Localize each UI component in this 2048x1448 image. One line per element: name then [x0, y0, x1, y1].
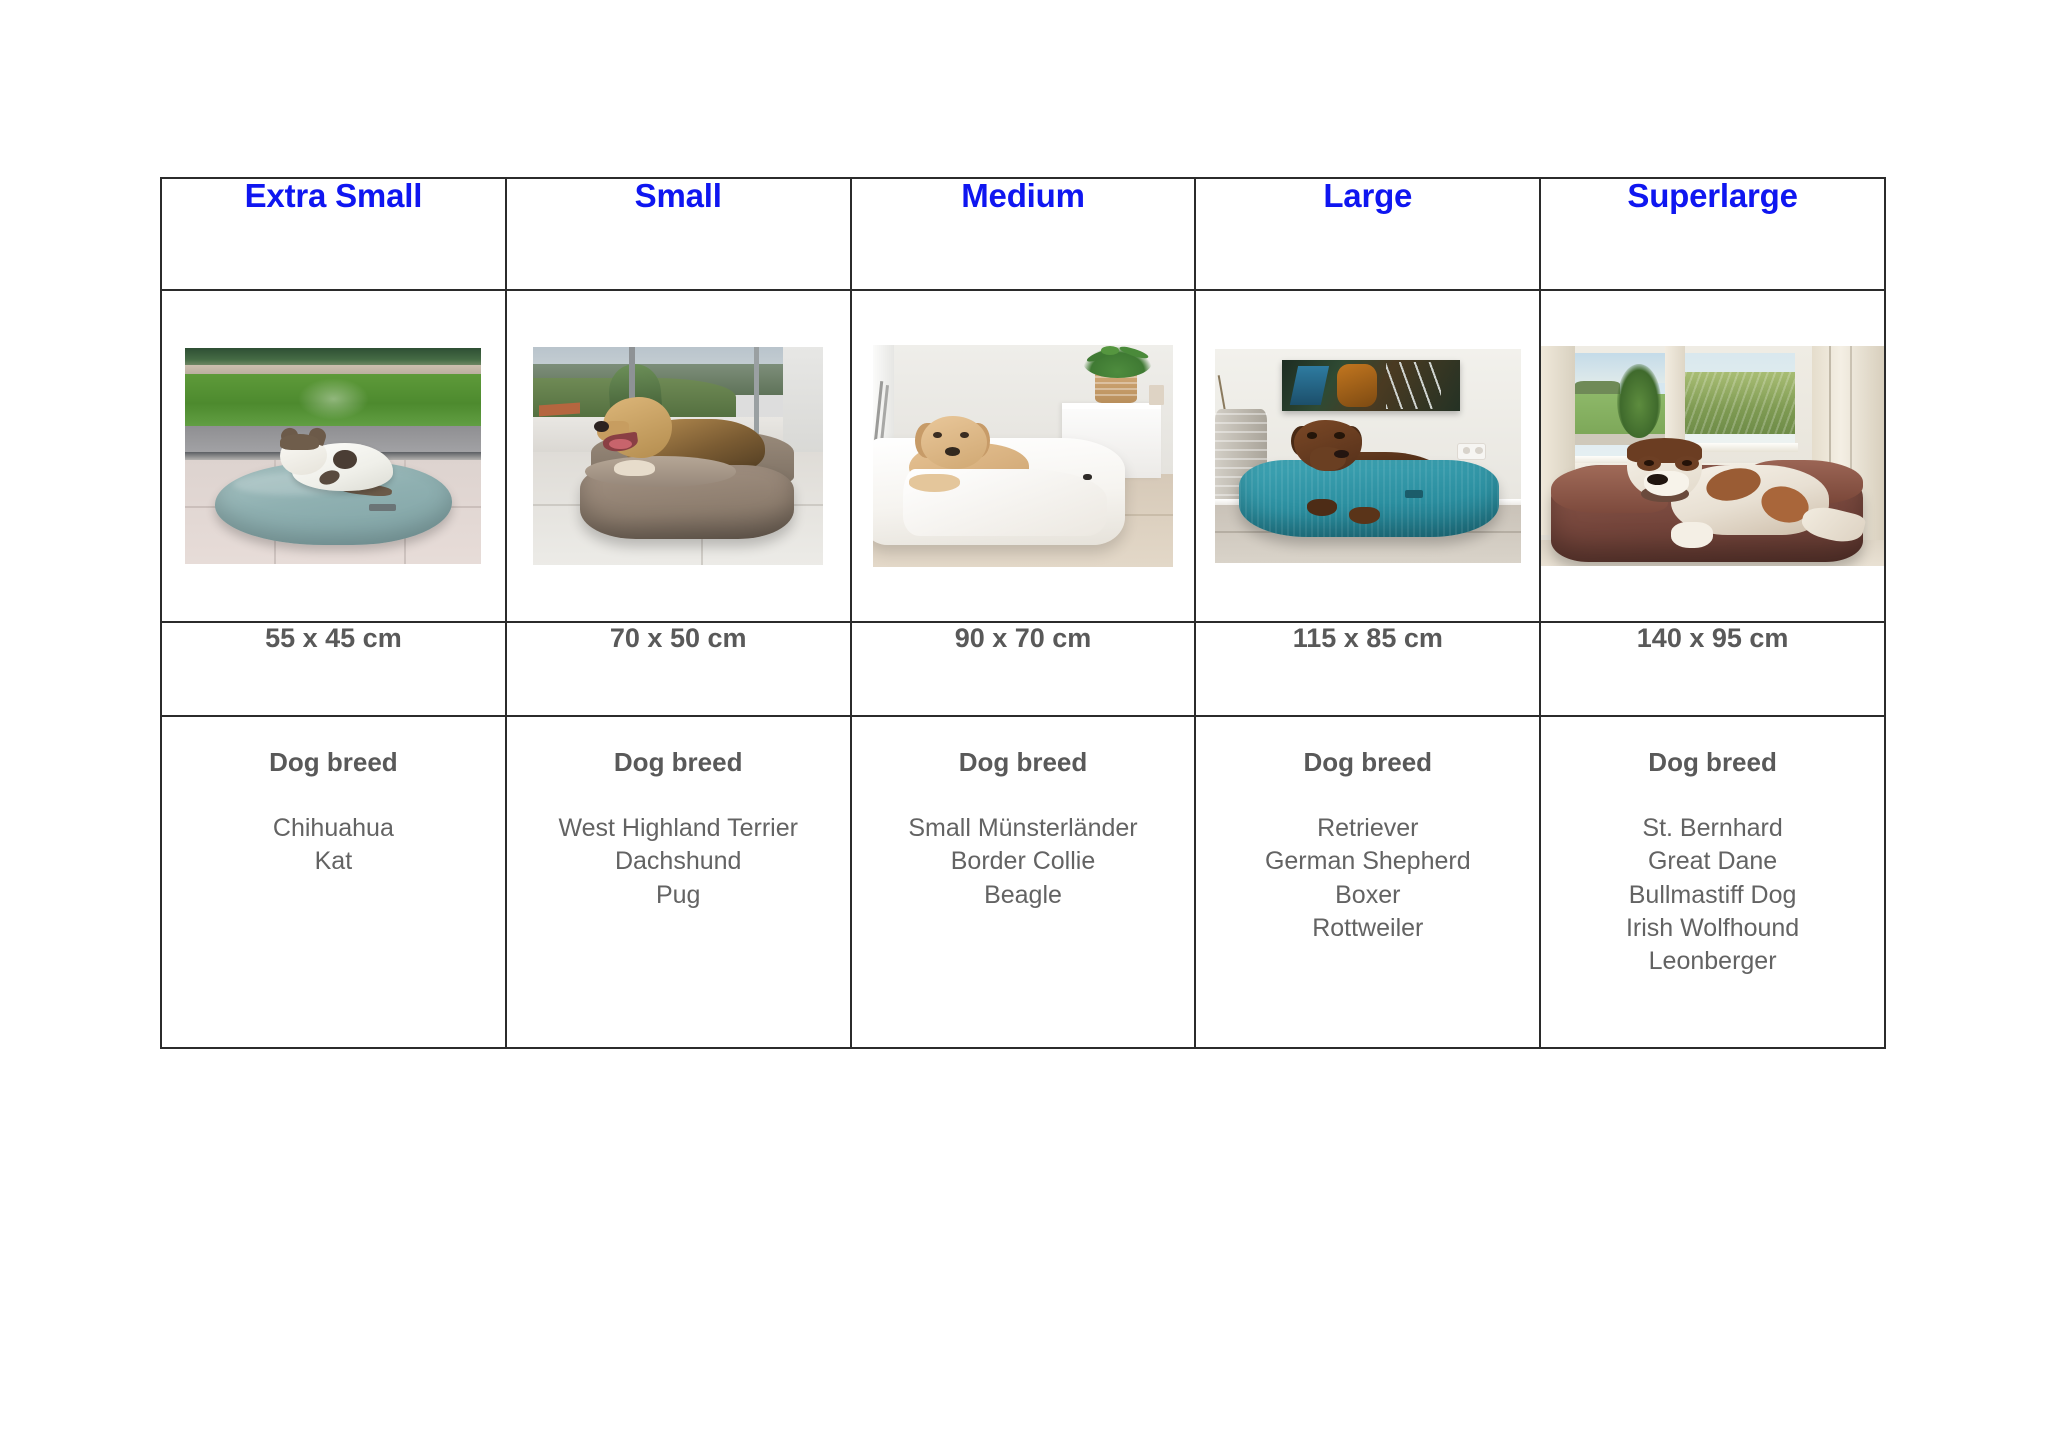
breed-list: St. Bernhard Great Dane Bullmastiff Dog … — [1541, 812, 1884, 978]
column-header-label: Superlarge — [1541, 179, 1884, 212]
photo-cell-small — [506, 290, 851, 622]
breed-list: Chihuahua Kat — [162, 812, 505, 879]
breed-section-title: Dog breed — [507, 747, 850, 778]
dimensions-label: 90 x 70 cm — [852, 623, 1195, 654]
breed-list: Retriever German Shepherd Boxer Rottweil… — [1196, 812, 1539, 945]
table-header-row: Extra Small Small Medium Large Superlarg… — [161, 178, 1885, 290]
column-header-label: Extra Small — [162, 179, 505, 212]
breed-item: Small Münsterländer — [852, 812, 1195, 845]
breeds-cell-small: Dog breed West Highland Terrier Dachshun… — [506, 716, 851, 1048]
breed-list: Small Münsterländer Border Collie Beagle — [852, 812, 1195, 912]
breed-section-title: Dog breed — [1541, 747, 1884, 778]
breed-item: Rottweiler — [1196, 912, 1539, 945]
breed-item: Irish Wolfhound — [1541, 912, 1884, 945]
breed-item: German Shepherd — [1196, 845, 1539, 878]
dimensions-cell-small: 70 x 50 cm — [506, 622, 851, 716]
dimensions-label: 115 x 85 cm — [1196, 623, 1539, 654]
breed-item: Retriever — [1196, 812, 1539, 845]
breed-item: West Highland Terrier — [507, 812, 850, 845]
dimensions-cell-medium: 90 x 70 cm — [851, 622, 1196, 716]
table-breeds-row: Dog breed Chihuahua Kat Dog breed West H… — [161, 716, 1885, 1048]
breed-section-title: Dog breed — [1196, 747, 1539, 778]
breeds-cell-extra-small: Dog breed Chihuahua Kat — [161, 716, 506, 1048]
product-photo-large — [1215, 349, 1521, 563]
breeds-cell-superlarge: Dog breed St. Bernhard Great Dane Bullma… — [1540, 716, 1885, 1048]
breed-item: Boxer — [1196, 879, 1539, 912]
column-header-label: Large — [1196, 179, 1539, 212]
photo-cell-extra-small — [161, 290, 506, 622]
dimensions-label: 55 x 45 cm — [162, 623, 505, 654]
header-cell-superlarge: Superlarge — [1540, 178, 1885, 290]
breed-item: Bullmastiff Dog — [1541, 879, 1884, 912]
product-photo-small — [533, 347, 823, 565]
breed-item: Chihuahua — [162, 812, 505, 845]
breed-item: Leonberger — [1541, 945, 1884, 978]
breed-list: West Highland Terrier Dachshund Pug — [507, 812, 850, 912]
product-photo-superlarge — [1541, 346, 1884, 566]
breed-section-title: Dog breed — [852, 747, 1195, 778]
breeds-cell-large: Dog breed Retriever German Shepherd Boxe… — [1195, 716, 1540, 1048]
header-cell-medium: Medium — [851, 178, 1196, 290]
column-header-label: Small — [507, 179, 850, 212]
breed-item: Pug — [507, 879, 850, 912]
dimensions-cell-superlarge: 140 x 95 cm — [1540, 622, 1885, 716]
dimensions-label: 140 x 95 cm — [1541, 623, 1884, 654]
header-cell-extra-small: Extra Small — [161, 178, 506, 290]
photo-cell-large — [1195, 290, 1540, 622]
breed-section-title: Dog breed — [162, 747, 505, 778]
photo-cell-medium — [851, 290, 1196, 622]
dimensions-cell-extra-small: 55 x 45 cm — [161, 622, 506, 716]
breed-item: Dachshund — [507, 845, 850, 878]
breed-item: Kat — [162, 845, 505, 878]
breed-item: Border Collie — [852, 845, 1195, 878]
table-dimensions-row: 55 x 45 cm 70 x 50 cm 90 x 70 cm 115 x 8… — [161, 622, 1885, 716]
column-header-label: Medium — [852, 179, 1195, 212]
breed-item: Great Dane — [1541, 845, 1884, 878]
dog-bed-size-table: Extra Small Small Medium Large Superlarg… — [160, 177, 1886, 1049]
document-page: Extra Small Small Medium Large Superlarg… — [0, 0, 2048, 1448]
dimensions-label: 70 x 50 cm — [507, 623, 850, 654]
breed-item: Beagle — [852, 879, 1195, 912]
product-photo-extra-small — [185, 348, 481, 564]
table-photo-row — [161, 290, 1885, 622]
breeds-cell-medium: Dog breed Small Münsterländer Border Col… — [851, 716, 1196, 1048]
breed-item: St. Bernhard — [1541, 812, 1884, 845]
header-cell-large: Large — [1195, 178, 1540, 290]
photo-cell-superlarge — [1540, 290, 1885, 622]
dimensions-cell-large: 115 x 85 cm — [1195, 622, 1540, 716]
product-photo-medium — [873, 345, 1173, 567]
header-cell-small: Small — [506, 178, 851, 290]
